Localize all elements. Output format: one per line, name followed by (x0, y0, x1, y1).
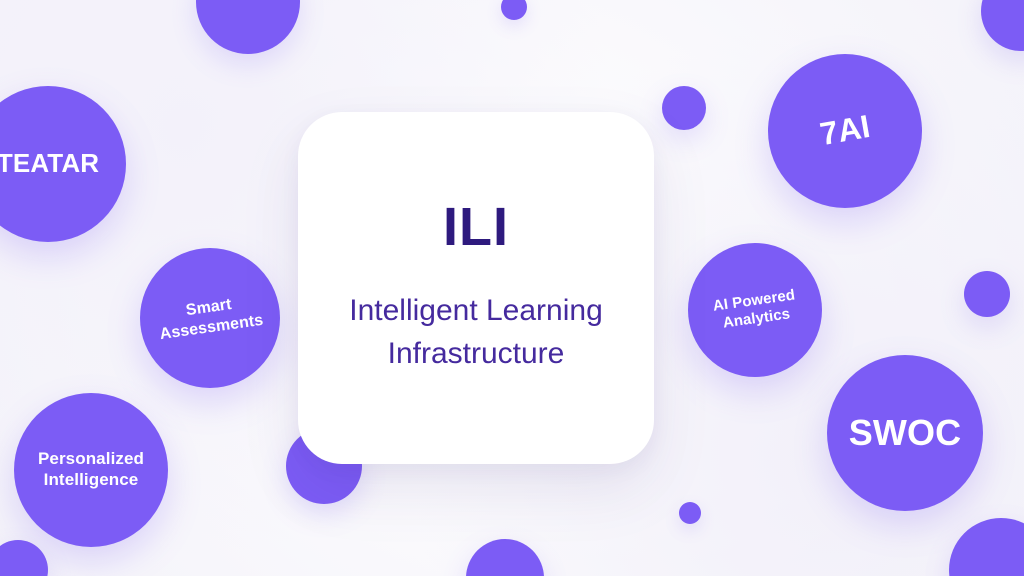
bubble-label-swoc: SWOC (841, 411, 969, 455)
bubble-deco-top-right-cut (981, 0, 1024, 51)
bubble-deco-bottom-sm (679, 502, 701, 524)
bubble-label-smart-assessments: Smart Assessments (148, 290, 273, 345)
bubble-deco-bottom-left (0, 540, 48, 576)
bubble-swoc[interactable]: SWOC (827, 355, 983, 511)
center-card: ILI Intelligent Learning Infrastructure (298, 112, 654, 464)
bubble-label-personalized-intelligence: Personalized Intelligence (30, 449, 152, 490)
bubble-deco-bottom-right (949, 518, 1024, 576)
bubble-ai-powered-analytics[interactable]: AI Powered Analytics (688, 243, 822, 377)
bubble-label-ai-powered-analytics: AI Powered Analytics (704, 285, 807, 335)
bubble-seven-ai[interactable]: 7AI (768, 54, 922, 208)
bubble-deco-right-mid (964, 271, 1010, 317)
bubble-deco-top-mid (501, 0, 527, 20)
bubble-deco-bottom-mid (466, 539, 544, 576)
bubble-label-seven-ai: 7AI (809, 106, 881, 156)
bubble-personalized-intelligence[interactable]: Personalized Intelligence (14, 393, 168, 547)
bubble-teatar[interactable]: TEATAR (0, 86, 126, 242)
slide-canvas: TEATARSmart AssessmentsPersonalized Inte… (0, 0, 1024, 576)
bubble-deco-top-right-sm (662, 86, 706, 130)
card-subtitle: Intelligent Learning Infrastructure (320, 290, 632, 375)
bubble-smart-assessments[interactable]: Smart Assessments (140, 248, 280, 388)
bubble-deco-top-left (196, 0, 300, 54)
page-title: ILI (443, 200, 509, 254)
bubble-label-teatar: TEATAR (0, 148, 107, 180)
